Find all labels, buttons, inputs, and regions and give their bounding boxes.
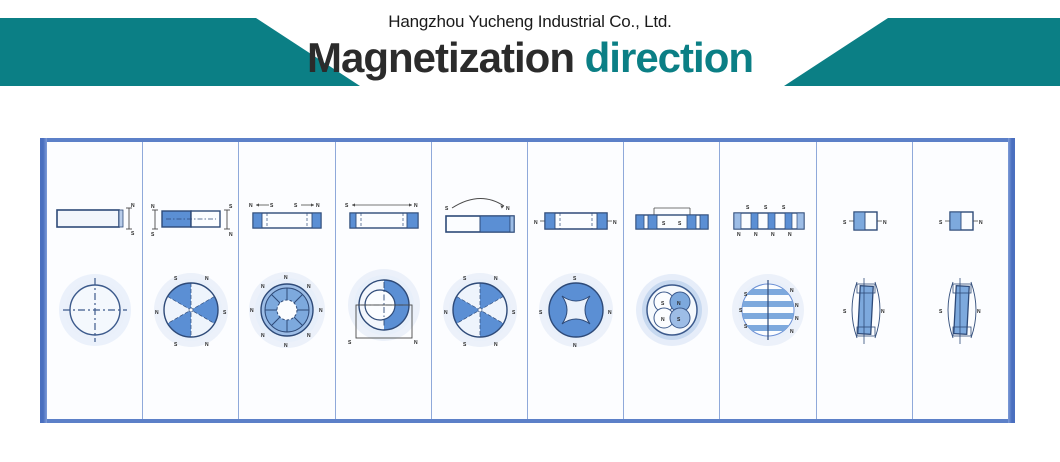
magnetization-cell-10[interactable]: S N S N [913, 142, 1008, 419]
cell-6-pole-2: N [608, 310, 612, 316]
cell-3-end-view: N N N N N N N N [239, 260, 334, 370]
cell-8-label-n3: N [771, 232, 775, 238]
cell-10-label-n: N [979, 220, 983, 226]
cell-9-pole-n: N [881, 309, 885, 315]
cell-8-end-view: S S S N N N N [720, 260, 815, 370]
cell-1-end-view [47, 260, 142, 370]
cell-8-label-n4: N [788, 232, 792, 238]
cell-3-pole-2: N [307, 284, 311, 290]
cell-9-side-view: S N [817, 188, 912, 250]
cell-2-label-s2: S [229, 204, 233, 210]
cell-8-label-n2: N [754, 232, 758, 238]
magnetization-cell-9[interactable]: S N S N [817, 142, 913, 419]
cell-2-pole-4: N [205, 342, 209, 348]
magnetization-cell-1[interactable]: N S [47, 142, 143, 419]
cell-3-label-n1: N [249, 203, 253, 209]
magnetization-cell-2[interactable]: N S S N [143, 142, 239, 419]
magnetization-cell-7[interactable]: S S S N N S [624, 142, 720, 419]
magnetization-cell-4[interactable]: S N S [336, 142, 432, 419]
cell-7-pole-2: N [677, 301, 681, 307]
cell-5-label-n: N [506, 206, 510, 212]
page-title: Magnetization direction [0, 36, 1060, 80]
cell-8-pole-n1: N [790, 288, 794, 294]
cell-6-label-n1: N [534, 220, 538, 226]
cell-5-side-view: S N [432, 188, 527, 250]
cell-3-label-s1: S [270, 203, 274, 209]
cell-1-label-s: S [131, 231, 135, 237]
company-name: Hangzhou Yucheng Industrial Co., Ltd. [0, 12, 1060, 32]
cell-6-label-n2: N [613, 220, 617, 226]
panel-right-border [1008, 138, 1015, 423]
cell-2-end-view: S N S N S N [143, 260, 238, 370]
cell-6-pole-3: N [573, 343, 577, 349]
cell-4-label-n: N [414, 203, 418, 209]
cell-2-label-n1: N [151, 204, 155, 210]
cell-4-label-s: S [345, 203, 349, 209]
cell-3-pole-3: N [319, 308, 323, 314]
cell-9-end-view: S N [817, 260, 912, 370]
panel-bottom-border [40, 419, 1015, 423]
cell-3-pole-4: N [307, 333, 311, 339]
cell-5-pole-6: N [444, 310, 448, 316]
cell-3-pole-5: N [284, 343, 288, 349]
cell-8-label-s1: S [746, 205, 750, 211]
cell-8-pole-n3: N [795, 316, 799, 322]
cell-8-label-n1: N [737, 232, 741, 238]
cell-1-label-n: N [131, 203, 135, 209]
page-title-part2: direction [585, 34, 753, 81]
cell-10-pole-s: S [939, 309, 943, 315]
panel-left-border [40, 138, 47, 423]
cell-5-pole-4: N [494, 342, 498, 348]
cell-8-pole-n4: N [790, 329, 794, 335]
magnetization-cell-8[interactable]: S S S N N N N [720, 142, 816, 419]
cell-4-end-view: S N [336, 260, 431, 370]
cell-1-side-view: N S [47, 188, 142, 250]
magnetization-cell-6[interactable]: N N S N N S [528, 142, 624, 419]
cell-2-side-view: N S S N [143, 188, 238, 250]
cell-3-side-view: N S S N [239, 188, 334, 250]
cell-2-label-s1: S [151, 232, 155, 238]
cell-3-pole-1: N [284, 275, 288, 281]
cell-3-label-n2: N [316, 203, 320, 209]
cell-9-label-s: S [843, 220, 847, 226]
magnetization-cell-3[interactable]: N S S N [239, 142, 335, 419]
cell-10-label-s: S [939, 220, 943, 226]
page-title-part1: Magnetization [307, 34, 574, 81]
cell-7-pole-3: N [661, 317, 665, 323]
cell-7-end-view: S N N S [624, 260, 719, 370]
cell-10-end-view: S N [913, 260, 1008, 370]
cell-8-pole-n2: N [795, 303, 799, 309]
cell-2-pole-6: N [155, 310, 159, 316]
cell-4-pole-n: N [414, 340, 418, 346]
cell-6-side-view: N N [528, 188, 623, 250]
cell-8-side-view: S S S N N N N [720, 188, 815, 250]
cell-4-side-view: S N [336, 188, 431, 250]
cell-4-pole-s: S [348, 340, 352, 346]
magnetization-cell-5[interactable]: S N S N [432, 142, 528, 419]
cell-3-pole-8: N [261, 284, 265, 290]
cell-8-label-s2: S [764, 205, 768, 211]
cell-5-pole-2: N [494, 276, 498, 282]
cell-7-side-view: S S [624, 188, 719, 250]
cell-5-label-s: S [445, 206, 449, 212]
cell-2-label-n2: N [229, 232, 233, 238]
cell-8-label-s3: S [782, 205, 786, 211]
cell-9-pole-s: S [843, 309, 847, 315]
cell-10-side-view: S N [913, 188, 1008, 250]
cell-10-pole-n: N [977, 309, 981, 315]
cell-3-label-s2: S [294, 203, 298, 209]
cell-2-pole-2: N [205, 276, 209, 282]
cell-6-end-view: S N N S [528, 260, 623, 370]
cell-9-label-n: N [883, 220, 887, 226]
cell-3-pole-7: N [250, 308, 254, 314]
cell-3-pole-6: N [261, 333, 265, 339]
cell-5-end-view: S N S N S N [432, 260, 527, 370]
magnetization-grid: N S N S [47, 142, 1008, 419]
page-header: Hangzhou Yucheng Industrial Co., Ltd. Ma… [0, 0, 1060, 90]
